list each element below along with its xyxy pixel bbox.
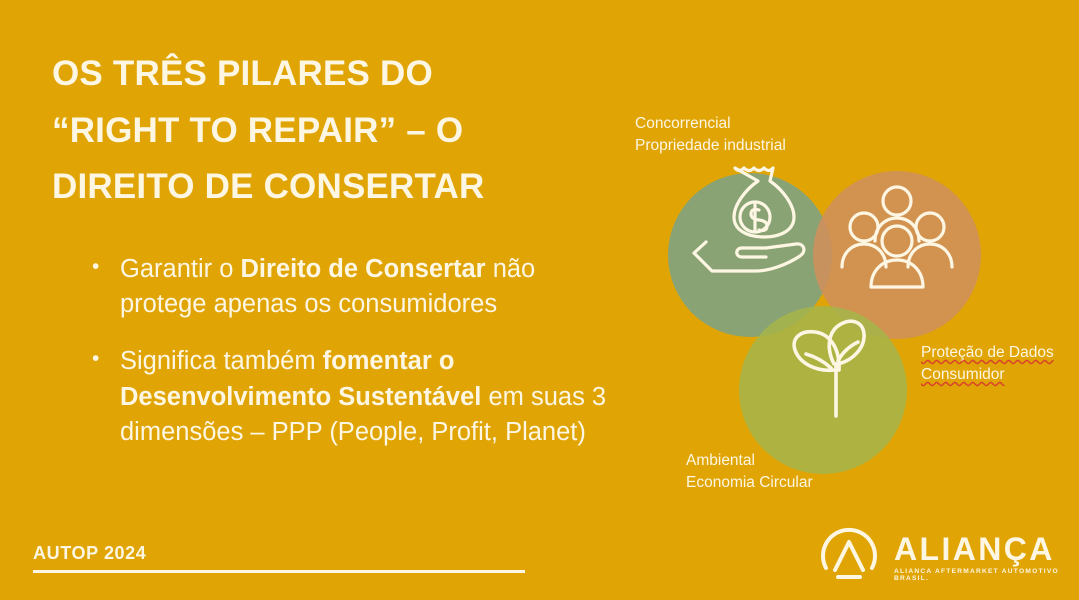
alianca-monogram-icon: [818, 524, 880, 591]
venn-circles: [668, 171, 981, 474]
brand-logo: ALIANÇA ALIANCA AFTERMARKET AUTOMOTIVO B…: [818, 524, 1079, 591]
bullet-marker-icon: •: [92, 344, 120, 374]
list-item: •Garantir o Direito de Consertar não pro…: [92, 252, 622, 322]
venn-svg: [640, 100, 1079, 510]
venn-caption-people: Proteção de Dados Consumidor: [921, 342, 1054, 386]
brand-name: ALIANÇA: [894, 531, 1055, 567]
list-item-text: Significa também fomentar o Desenvolvime…: [120, 344, 622, 450]
bullet-marker-icon: •: [92, 252, 120, 282]
footer-divider: [33, 570, 525, 573]
venn-caption-planet: Ambiental Economia Circular: [686, 450, 813, 494]
list-item: •Significa também fomentar o Desenvolvim…: [92, 344, 622, 450]
slide-canvas: OS TRÊS PILARES DO “RIGHT TO REPAIR” – O…: [0, 0, 1079, 600]
venn-circle-planet: [739, 306, 907, 474]
venn-diagram: PROFIT PEOPLE PLANET: [640, 100, 1079, 510]
footer-left: AUTOP 2024: [33, 543, 528, 573]
venn-caption-profit: Concorrencial Propriedade industrial: [635, 113, 786, 157]
brand-tagline: ALIANCA AFTERMARKET AUTOMOTIVO BRASIL.: [894, 569, 1079, 582]
page-title: OS TRÊS PILARES DO “RIGHT TO REPAIR” – O…: [52, 46, 592, 216]
event-label: AUTOP 2024: [33, 543, 528, 564]
list-item-text: Garantir o Direito de Consertar não prot…: [120, 252, 622, 322]
bullet-list: •Garantir o Direito de Consertar não pro…: [92, 252, 622, 472]
